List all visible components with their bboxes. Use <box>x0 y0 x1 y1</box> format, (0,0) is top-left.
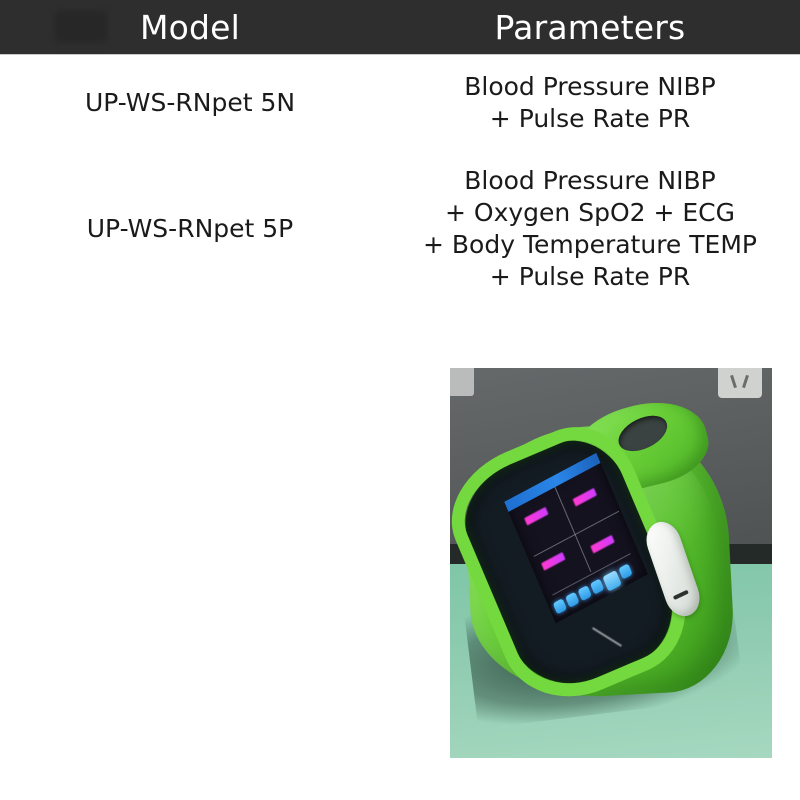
parameter-line: + Pulse Rate PR <box>380 103 800 135</box>
product-photo <box>450 368 772 758</box>
lcd-button <box>618 563 632 579</box>
lcd-button <box>565 592 579 608</box>
table-row: UP-WS-RNpet 5N Blood Pressure NIBP + Pul… <box>0 55 800 151</box>
cell-model-value: UP-WS-RNpet 5N <box>0 87 380 118</box>
parameter-line: + Oxygen SpO2 + ECG <box>380 197 800 229</box>
cell-parameters-value: Blood Pressure NIBP + Pulse Rate PR <box>380 71 800 135</box>
lcd-reading-nibp <box>524 507 548 526</box>
device-side-slot <box>673 590 689 600</box>
lcd-reading-pulse-rate <box>590 535 614 554</box>
parameter-line: Blood Pressure NIBP <box>380 165 800 197</box>
parameter-line: Blood Pressure NIBP <box>380 71 800 103</box>
lcd-button <box>590 578 604 594</box>
lcd-reading-temp <box>541 552 565 571</box>
cell-model-value: UP-WS-RNpet 5P <box>0 213 380 244</box>
lcd-reading-spo2 <box>573 488 597 507</box>
column-header-parameters: Parameters <box>380 0 800 55</box>
lcd-button <box>553 598 567 614</box>
column-header-model: Model <box>0 0 380 55</box>
table-header-bar: Model Parameters <box>0 0 800 55</box>
spec-table-body: UP-WS-RNpet 5N Blood Pressure NIBP + Pul… <box>0 55 800 306</box>
cell-parameters-value: Blood Pressure NIBP + Oxygen SpO2 + ECG … <box>380 165 800 293</box>
parameter-line: + Pulse Rate PR <box>380 261 800 293</box>
parameter-line: + Body Temperature TEMP <box>380 229 800 261</box>
lcd-divider-horizontal <box>534 511 619 557</box>
lcd-button-active <box>602 570 622 592</box>
table-row: UP-WS-RNpet 5P Blood Pressure NIBP + Oxy… <box>0 151 800 306</box>
lcd-button <box>578 585 592 601</box>
vital-signs-monitor-device <box>460 386 742 708</box>
